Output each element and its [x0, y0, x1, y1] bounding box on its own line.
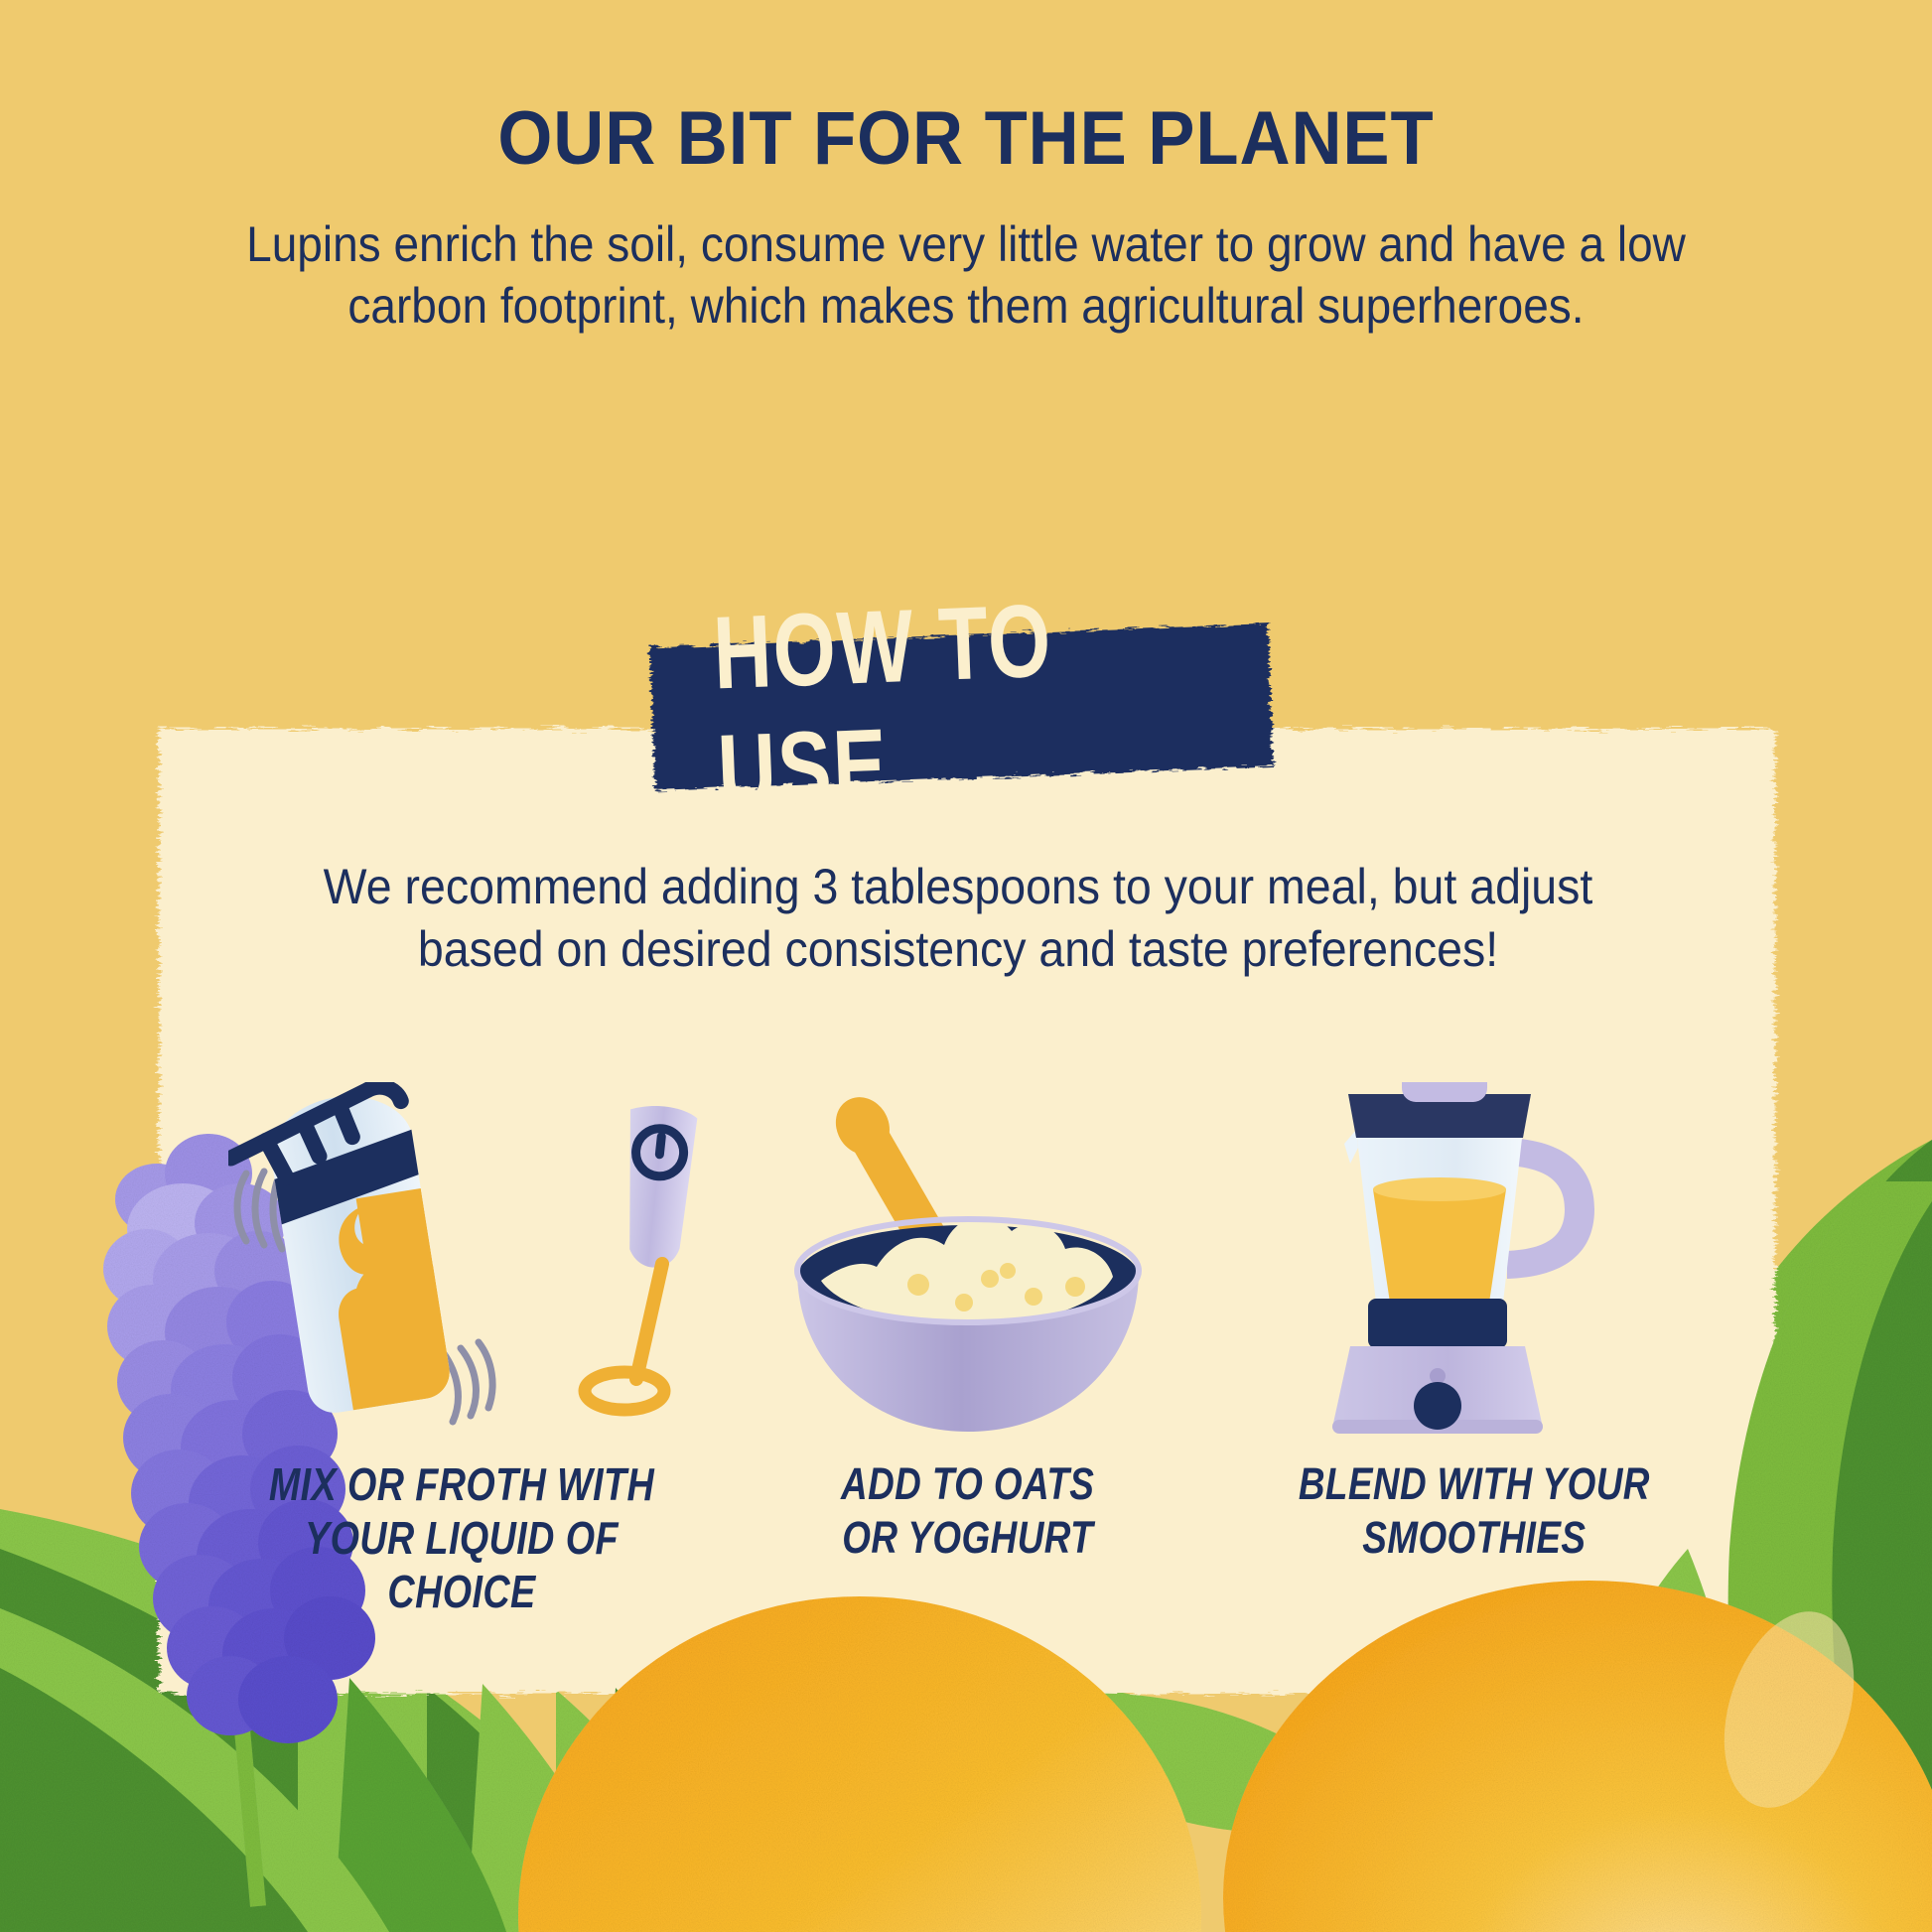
frother-whisk [585, 1372, 664, 1410]
recommendation-text: We recommend adding 3 tablespoons to you… [279, 856, 1636, 981]
poster-canvas: OUR BIT FOR THE PLANET Lupins enrich the… [0, 0, 1932, 1932]
blender-indicator [1430, 1368, 1446, 1384]
how-to-use-banner: HOW TO USE [643, 616, 1280, 798]
blender-icon [1311, 1082, 1638, 1440]
step-label: ADD TO OATS OR YOGHURT [841, 1457, 1094, 1565]
step-label: BLEND WITH YOUR SMOOTHIES [1299, 1457, 1650, 1565]
blender-collar [1368, 1299, 1507, 1348]
blender-knob [1414, 1382, 1461, 1430]
step-label: MIX OR FROTH WITH YOUR LIQUID OF CHOICE [254, 1457, 669, 1618]
blender-lid-cap [1402, 1082, 1487, 1102]
milk-frother-icon [551, 1097, 769, 1435]
how-to-use-label: HOW TO USE [713, 616, 1210, 793]
how-to-use-steps: MIX OR FROTH WITH YOUR LIQUID OF CHOICE [208, 1082, 1727, 1638]
bowl-with-spoon-icon [769, 1082, 1167, 1440]
page-title: OUR BIT FOR THE PLANET [68, 95, 1864, 182]
step-add-to-oats: ADD TO OATS OR YOGHURT [715, 1082, 1221, 1565]
motion-lines-right [443, 1342, 492, 1422]
step-blend-smoothies: BLEND WITH YOUR SMOOTHIES [1221, 1082, 1727, 1565]
frother-stem [636, 1264, 662, 1379]
intro-paragraph: Lupins enrich the soil, consume very lit… [223, 213, 1709, 337]
blender-contents [1373, 1189, 1506, 1303]
